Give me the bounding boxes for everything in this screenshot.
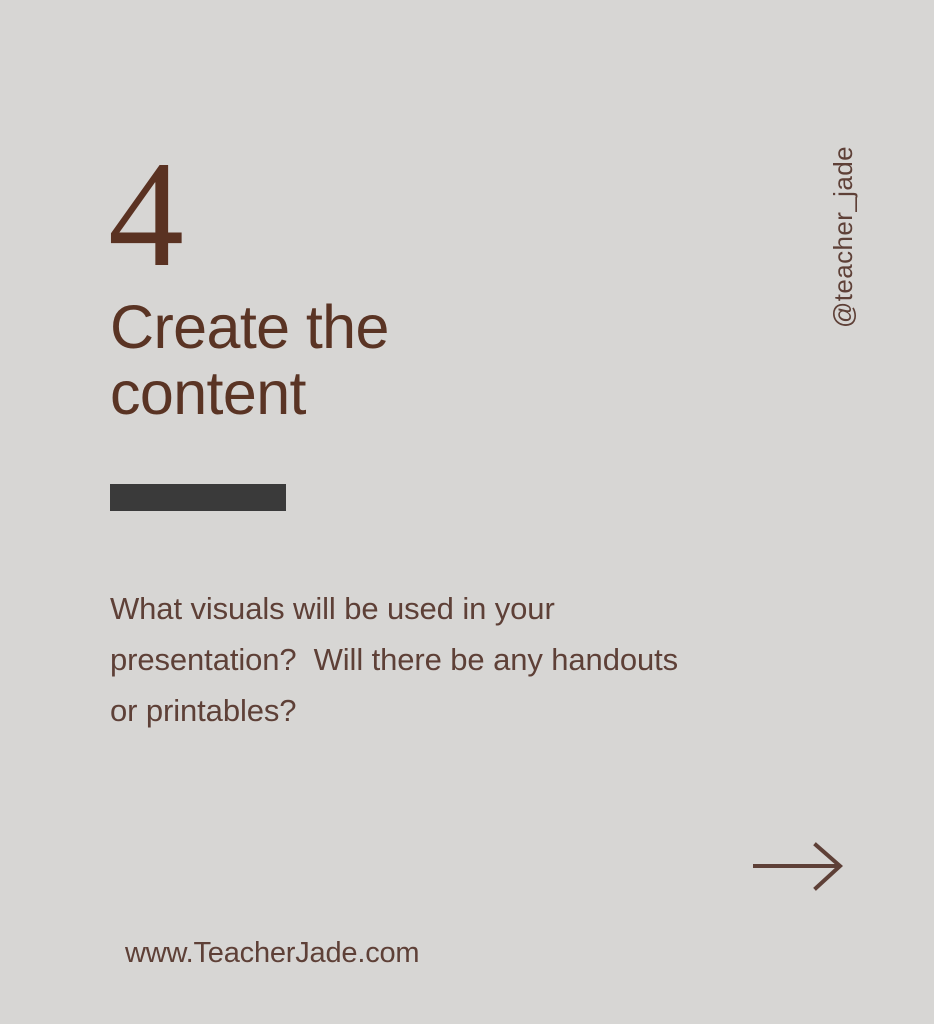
body-text-line-3: or printables? <box>110 685 830 736</box>
page-title-line-2: content <box>110 360 670 426</box>
step-number: 4 <box>108 138 184 290</box>
page-title: Create the content <box>110 294 670 426</box>
slide-canvas: 4 Create the content What visuals will b… <box>0 0 934 1024</box>
body-text-line-2: presentation? Will there be any handouts <box>110 634 830 685</box>
body-text-line-1: What visuals will be used in your <box>110 583 830 634</box>
page-title-line-1: Create the <box>110 294 670 360</box>
website-link[interactable]: www.TeacherJade.com <box>125 936 419 970</box>
social-handle-text: @teacher_jade <box>830 146 856 328</box>
title-divider-rule <box>110 484 286 511</box>
body-text: What visuals will be used in your presen… <box>110 583 830 736</box>
arrow-right-icon <box>752 840 846 892</box>
next-slide-button[interactable] <box>752 840 846 892</box>
